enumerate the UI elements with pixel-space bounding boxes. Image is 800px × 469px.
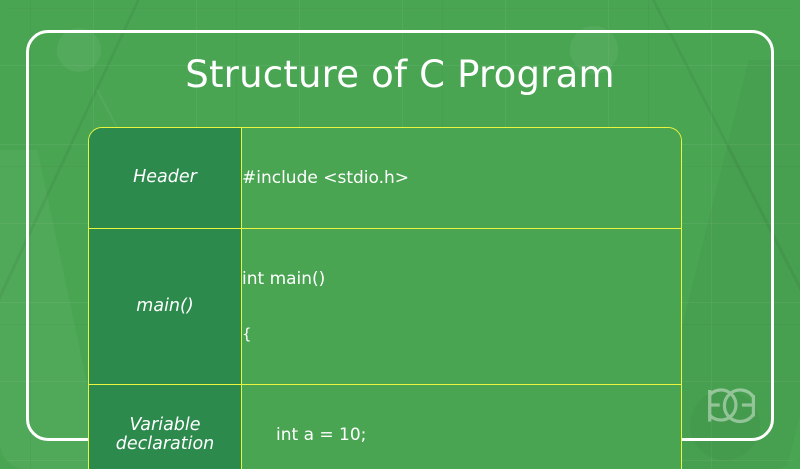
gg-logo-icon	[676, 377, 762, 433]
page-title: Structure of C Program	[0, 53, 800, 96]
table-row: Variable declaration int a = 10;	[89, 385, 681, 469]
row-label-variable-line2: declaration	[116, 434, 215, 454]
row-code-header: #include <stdio.h>	[242, 128, 682, 229]
code-line: #include <stdio.h>	[242, 168, 681, 188]
row-label-variable-line1: Variable	[129, 415, 200, 435]
row-label-main: main()	[89, 229, 242, 385]
row-code-main: int main() {	[242, 229, 682, 385]
row-code-variable: int a = 10;	[242, 385, 682, 469]
structure-table: Header #include <stdio.h> main() int mai…	[88, 127, 682, 469]
row-label-variable: Variable declaration	[89, 385, 242, 469]
row-label-header: Header	[89, 128, 242, 229]
table-row: main() int main() {	[89, 229, 681, 385]
code-line: int main()	[242, 269, 681, 289]
background-circle-3	[690, 390, 760, 460]
table-row: Header #include <stdio.h>	[89, 128, 681, 229]
code-line: {	[242, 326, 681, 344]
code-line: int a = 10;	[242, 425, 681, 445]
slide-canvas: Structure of C Program Header #include <…	[0, 0, 800, 469]
